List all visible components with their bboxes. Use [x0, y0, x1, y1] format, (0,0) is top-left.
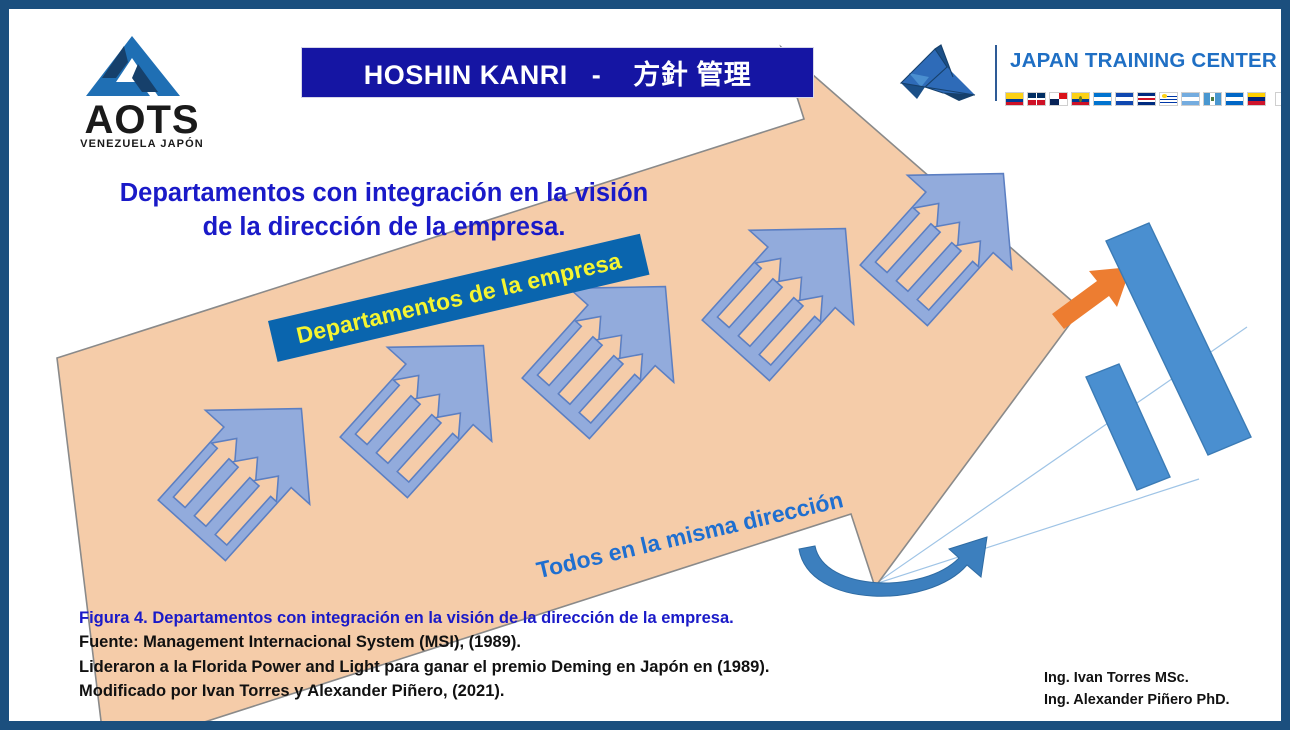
flag-el-salvador: [1115, 92, 1134, 106]
footer-figure-title: Figura 4. Departamentos con integración …: [79, 606, 869, 630]
aots-wordmark: AOTS: [62, 100, 222, 140]
author-line-2: Ing. Alexander Piñero PhD.: [1044, 689, 1274, 711]
latam-flags-strip: [1005, 92, 1290, 106]
headline-line-1: Departamentos con integración en la visi…: [79, 177, 689, 211]
jtc-divider: [995, 45, 997, 101]
goal-bar-short: [1086, 364, 1170, 490]
slide-title-banner: HOSHIN KANRI - 方針 管理: [301, 47, 814, 98]
jtc-latam-wordmark: JAPAN TRAINING CENTER LATAM: [1010, 49, 1275, 73]
footer-note: Lideraron a la Florida Power and Light p…: [79, 655, 869, 679]
page-title: HOSHIN KANRI - 方針 管理: [364, 53, 752, 92]
footer-caption: Figura 4. Departamentos con integración …: [79, 606, 869, 704]
flag-colombia: [1005, 92, 1024, 106]
flag-argentina: [1181, 92, 1200, 106]
flag-venezuela: [1247, 92, 1266, 106]
flag-costa-rica: [1137, 92, 1156, 106]
page-headline: Departamentos con integración en la visi…: [79, 177, 689, 245]
slide-canvas: Departamentos de la empresa Todos en la …: [0, 0, 1290, 730]
aots-logo: AOTS VENEZUELA JAPÓN: [54, 34, 229, 139]
flag-guatemala: [1203, 92, 1222, 106]
goal-bars: [1086, 223, 1251, 490]
aots-triangle-icon: [72, 34, 192, 104]
origami-crane-icon: [895, 43, 981, 105]
flag-ecuador: [1071, 92, 1090, 106]
flag-japan: [1275, 92, 1290, 106]
flag-honduras: [1093, 92, 1112, 106]
flag-panama: [1049, 92, 1068, 106]
author-signature: Ing. Ivan Torres MSc. Ing. Alexander Piñ…: [1044, 667, 1274, 712]
aots-subtitle: VENEZUELA JAPÓN: [62, 138, 222, 150]
flag-nicaragua: [1225, 92, 1244, 106]
headline-line-2: de la dirección de la empresa.: [79, 211, 689, 245]
author-line-1: Ing. Ivan Torres MSc.: [1044, 667, 1274, 689]
flag-uruguay: [1159, 92, 1178, 106]
flag-dominican-republic: [1027, 92, 1046, 106]
jtc-latam-logo: JAPAN TRAINING CENTER LATAM: [895, 37, 1273, 117]
footer-source: Fuente: Management Internacional System …: [79, 630, 869, 654]
footer-modified: Modificado por Ivan Torres y Alexander P…: [79, 679, 869, 703]
